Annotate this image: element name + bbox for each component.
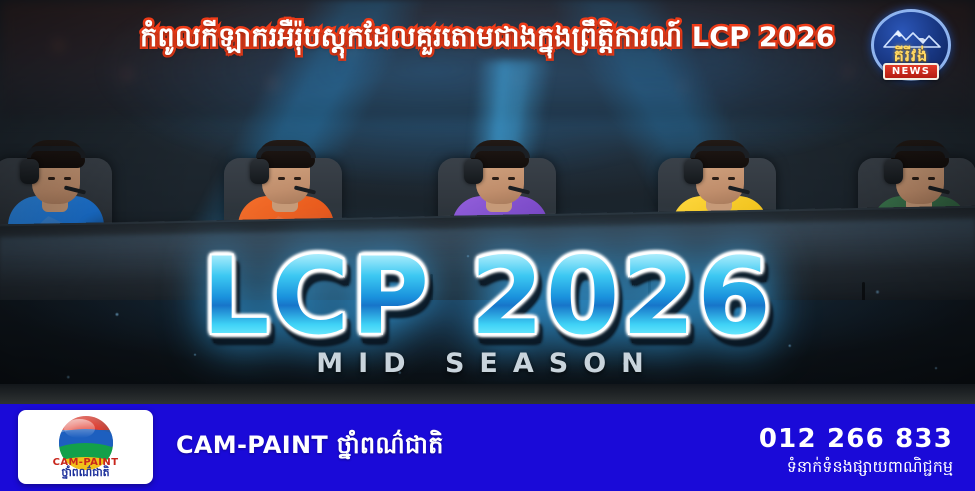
footer-brand-line: CAM-PAINT ថ្នាំពណ៌ជាតិ <box>176 430 444 465</box>
headline-text: កំពូលកីឡាករអឺរ៉ុបស្តុកដែលគួរតោមជាងក្នុងព… <box>0 20 975 56</box>
footer-contact-note: ទំនាក់ទំនងផ្សាយពាណិជ្ជកម្ម <box>787 456 953 480</box>
main-title-wrap: LCP 2026 <box>0 244 975 350</box>
main-title: LCP 2026 <box>202 244 773 350</box>
footer-divider <box>0 384 975 404</box>
logo-news-badge: NEWS <box>883 63 939 80</box>
subtitle: MID SEASON <box>0 348 975 379</box>
footer-phone-number[interactable]: 012 266 833 <box>759 424 953 454</box>
headset-icon <box>256 146 316 158</box>
channel-logo[interactable]: គីរីវង់ NEWS <box>865 7 961 85</box>
sponsor-logo-tagline: ថ្នាំពណ៌ជាតិ <box>18 466 153 482</box>
lcp-2026-banner: កំពូលកីឡាករអឺរ៉ុបស្តុកដែលគួរតោមជាងក្នុងព… <box>0 0 975 491</box>
headset-icon <box>690 146 750 158</box>
headset-icon <box>26 146 86 158</box>
headset-icon <box>470 146 530 158</box>
footer-bar: CAM-PAINT ថ្នាំពណ៌ជាតិ CAM-PAINT ថ្នាំពណ… <box>0 404 975 491</box>
sponsor-logo-card[interactable]: CAM-PAINT ថ្នាំពណ៌ជាតិ <box>18 410 153 484</box>
headset-icon <box>890 146 950 158</box>
globe-gloss <box>64 419 95 438</box>
